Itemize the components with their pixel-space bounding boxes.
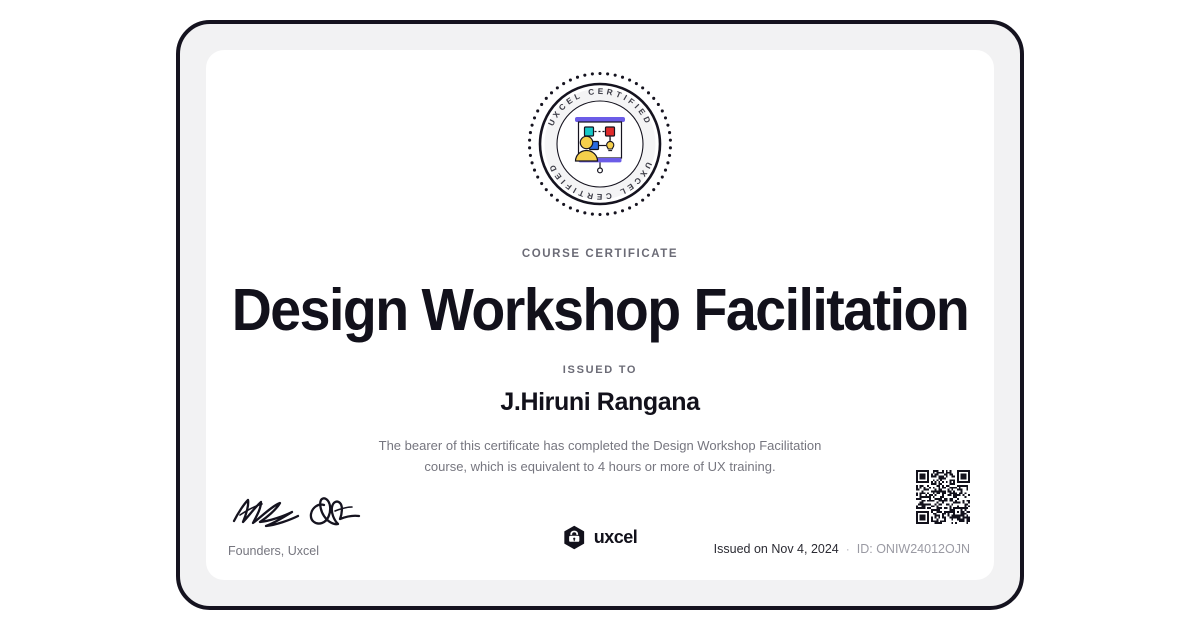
certification-seal: UXCEL CERTIFIED UXCEL CERTIFIED: [524, 68, 676, 220]
qr-code-icon[interactable]: [916, 470, 970, 524]
certificate-meta: Issued on Nov 4, 2024 · ID: ONIW24012OJN: [714, 542, 970, 556]
issued-to-label: ISSUED TO: [206, 364, 994, 376]
page-title: Design Workshop Facilitation: [230, 275, 971, 345]
signature-caption: Founders, Uxcel: [228, 544, 418, 558]
certificate-frame: UXCEL CERTIFIED UXCEL CERTIFIED: [176, 20, 1024, 610]
certificate-page: UXCEL CERTIFIED UXCEL CERTIFIED: [0, 0, 1200, 630]
verification-qr-code[interactable]: [916, 470, 970, 524]
meta-separator: ·: [846, 542, 850, 556]
uxcel-brand: uxcel: [563, 525, 638, 550]
uxcel-logo-icon: [563, 525, 586, 550]
certificate-id: ID: ONIW24012OJN: [857, 542, 970, 556]
course-certificate-kicker: COURSE CERTIFICATE: [206, 248, 994, 260]
certificate-card: UXCEL CERTIFIED UXCEL CERTIFIED: [206, 50, 994, 580]
founders-signature-icon: [228, 491, 393, 537]
uxcel-wordmark: uxcel: [594, 527, 638, 548]
issued-date: Issued on Nov 4, 2024: [714, 542, 839, 556]
description-line-1: The bearer of this certificate has compl…: [206, 436, 994, 457]
seal-graphic: UXCEL CERTIFIED UXCEL CERTIFIED: [524, 68, 676, 220]
recipient-name: J.Hiruni Rangana: [206, 388, 994, 417]
certificate-footer: Founders, Uxcel uxcel: [206, 470, 994, 580]
signature-block: Founders, Uxcel: [228, 491, 418, 558]
